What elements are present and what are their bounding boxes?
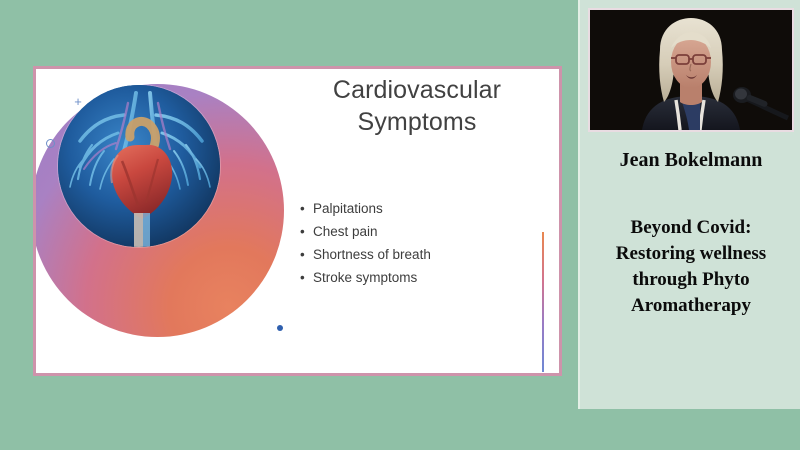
list-item: Palpitations	[300, 197, 540, 220]
list-item: Shortness of breath	[300, 243, 540, 266]
slide-title: Cardiovascular Symptoms	[286, 74, 548, 138]
slide-frame: + Cardiovascular Symptoms Palpitations C…	[33, 66, 562, 376]
presentation-screenshot: + Cardiovascular Symptoms Palpitations C…	[0, 0, 800, 450]
dot-icon	[277, 325, 283, 331]
heart-anatomy-image	[58, 85, 220, 247]
talk-title: Beyond Covid: Restoring wellness through…	[588, 215, 794, 319]
speaker-video-thumbnail[interactable]	[590, 10, 792, 130]
speaker-name: Jean Bokelmann	[586, 148, 796, 172]
plus-icon: +	[72, 96, 84, 108]
slide-bullet-list: Palpitations Chest pain Shortness of bre…	[300, 197, 540, 289]
list-item: Stroke symptoms	[300, 266, 540, 289]
list-item: Chest pain	[300, 220, 540, 243]
vertical-gradient-rule	[542, 232, 544, 372]
slide-canvas: + Cardiovascular Symptoms Palpitations C…	[36, 69, 559, 373]
circle-outline-icon	[46, 139, 55, 148]
speaker-panel: Jean Bokelmann Beyond Covid: Restoring w…	[578, 0, 800, 409]
